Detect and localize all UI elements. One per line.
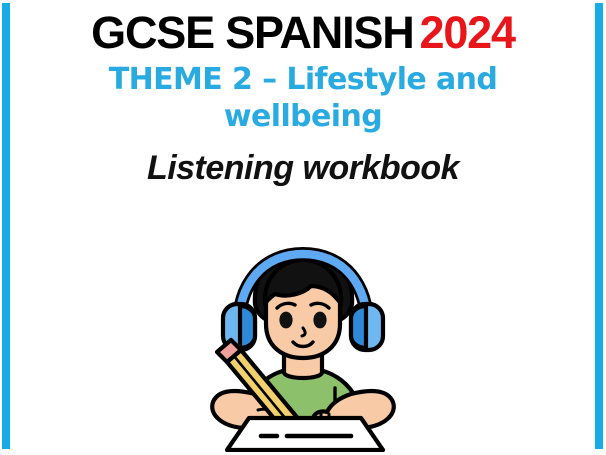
cover-content: GCSE SPANISH2024 THEME 2 – Lifestyle and… — [18, 0, 588, 455]
page-title: GCSE SPANISH2024 — [18, 0, 588, 56]
title-main-text: GCSE SPANISH — [91, 7, 413, 58]
child-with-headphones-writing-illustration — [183, 242, 423, 452]
subtitle-heading: Listening workbook — [18, 149, 588, 188]
left-border-rule — [2, 3, 10, 449]
right-border-rule — [595, 3, 603, 449]
title-year: 2024 — [420, 7, 515, 58]
headphone-cup-left-inner — [240, 306, 255, 348]
eye-left — [279, 312, 292, 329]
eye-right — [313, 312, 326, 329]
workbook-cover: GCSE SPANISH2024 THEME 2 – Lifestyle and… — [0, 0, 606, 455]
headphone-cup-right-inner — [351, 306, 366, 348]
theme-heading: THEME 2 – Lifestyle and wellbeing — [73, 62, 533, 135]
